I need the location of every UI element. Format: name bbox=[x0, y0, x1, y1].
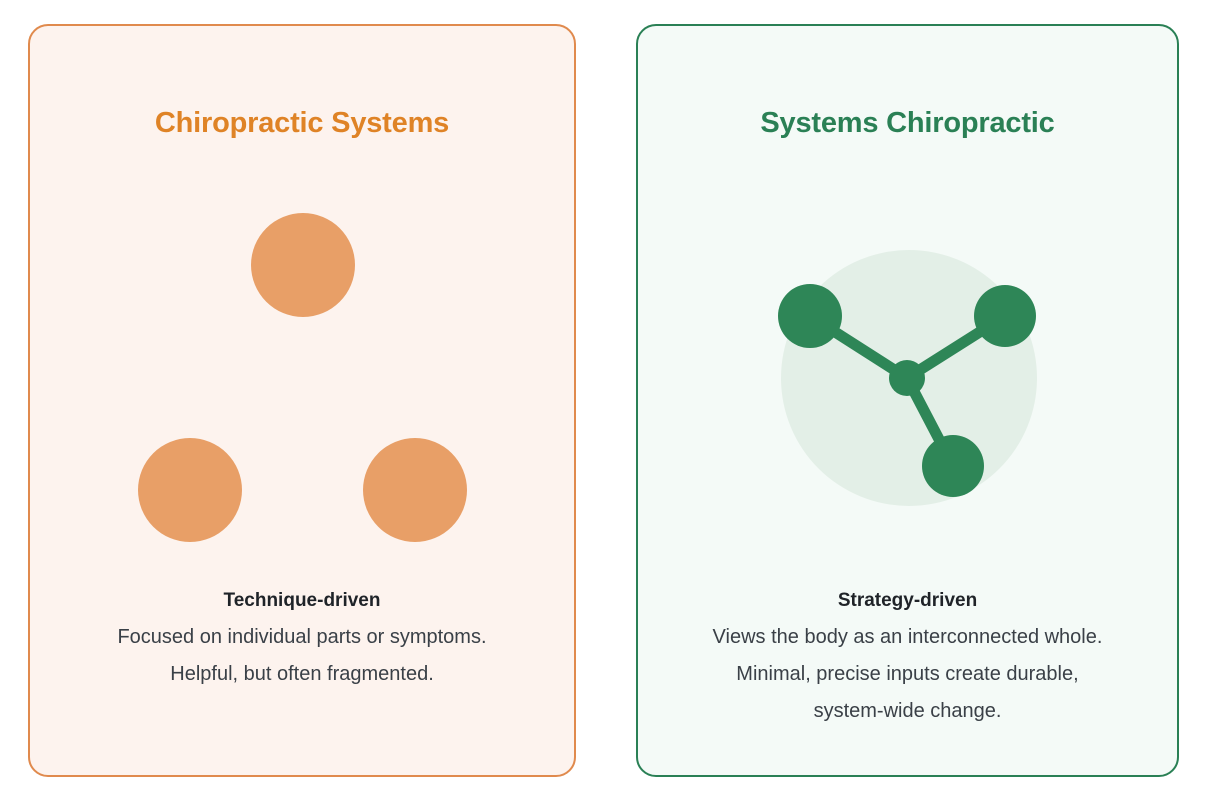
visual-three-separate-dots bbox=[30, 186, 574, 546]
node-hub-icon bbox=[889, 360, 925, 396]
fragment-dot-bottom-left-icon bbox=[138, 438, 242, 542]
page-title-systems-chiropractic: Systems Chiropractic bbox=[638, 106, 1177, 141]
visual-connected-network bbox=[638, 186, 1177, 546]
caption-heading-technique-driven: Technique-driven bbox=[56, 586, 548, 615]
fragment-dot-bottom-right-icon bbox=[363, 438, 467, 542]
network-graph-icon bbox=[638, 186, 1177, 546]
fragment-dot-top-icon bbox=[251, 213, 355, 317]
caption-block-right: Strategy-driven Views the body as an int… bbox=[638, 586, 1177, 730]
node-upper-left-icon bbox=[778, 284, 842, 348]
card-systems-chiropractic: Systems Chiropractic Strategy-driven bbox=[636, 24, 1179, 777]
node-lower-icon bbox=[922, 435, 984, 497]
card-chiropractic-systems: Chiropractic Systems Technique-driven Fo… bbox=[28, 24, 576, 777]
caption-body-strategy-driven: Views the body as an interconnected whol… bbox=[664, 619, 1151, 730]
caption-block-left: Technique-driven Focused on individual p… bbox=[30, 586, 574, 693]
caption-heading-strategy-driven: Strategy-driven bbox=[664, 586, 1151, 615]
node-upper-right-icon bbox=[974, 285, 1036, 347]
page-title-chiropractic-systems: Chiropractic Systems bbox=[30, 106, 574, 141]
caption-body-technique-driven: Focused on individual parts or symptoms.… bbox=[56, 619, 548, 693]
comparison-board: Chiropractic Systems Technique-driven Fo… bbox=[0, 0, 1210, 797]
